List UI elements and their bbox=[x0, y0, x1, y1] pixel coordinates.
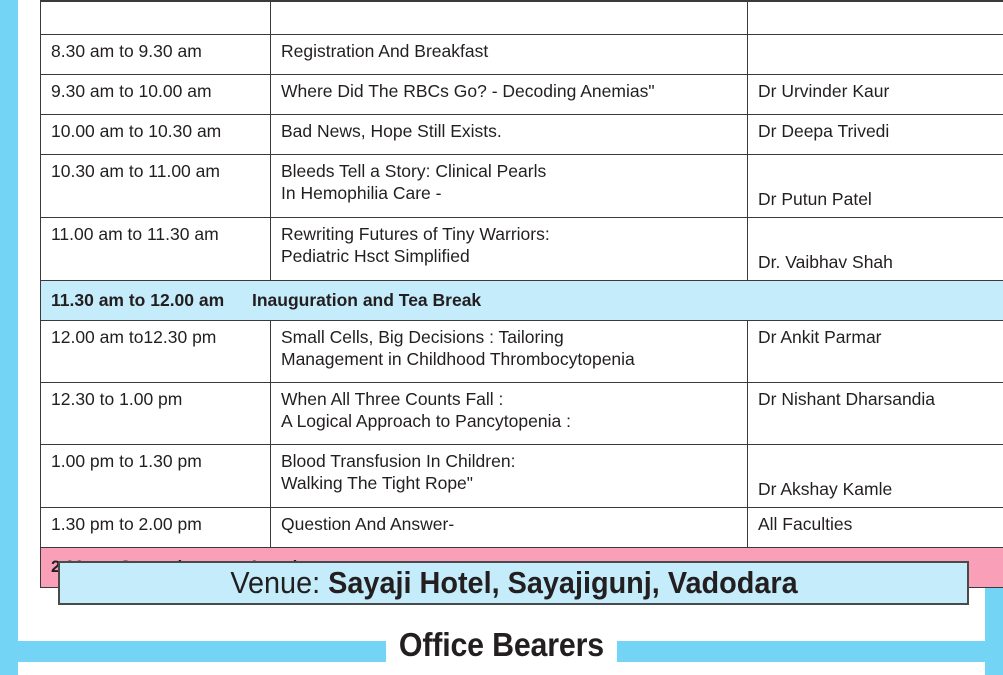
schedule-table-body: 8.30 am to 9.30 am Registration And Brea… bbox=[41, 1, 1003, 588]
cell-topic: Question And Answer- bbox=[271, 508, 748, 548]
cell-topic: Blood Transfusion In Children: Walking T… bbox=[271, 445, 748, 508]
cell-faculty: Dr. Vaibhav Shah bbox=[748, 218, 1003, 281]
cell-faculty bbox=[748, 1, 1003, 35]
cell-time: 10.00 am to 10.30 am bbox=[41, 115, 271, 155]
cell-time: 1.00 pm to 1.30 pm bbox=[41, 445, 271, 508]
cell-faculty: Dr Putun Patel bbox=[748, 155, 1003, 218]
table-row: 10.00 am to 10.30 am Bad News, Hope Stil… bbox=[41, 115, 1003, 155]
cell-break-blue: 11.30 am to 12.00 am Inauguration and Te… bbox=[41, 281, 1003, 321]
cell-time: 12.00 am to12.30 pm bbox=[41, 321, 271, 383]
topic-line-1: Small Cells, Big Decisions : Tailoring bbox=[281, 326, 739, 348]
topic-line-1: When All Three Counts Fall : bbox=[281, 388, 739, 410]
cell-faculty: Dr Nishant Dharsandia bbox=[748, 383, 1003, 445]
cell-faculty: All Faculties bbox=[748, 508, 1003, 548]
cell-faculty: Dr Urvinder Kaur bbox=[748, 75, 1003, 115]
venue-bar: Venue: Sayaji Hotel, Sayajigunj, Vadodar… bbox=[58, 561, 969, 605]
topic-line-1: Bleeds Tell a Story: Clinical Pearls bbox=[281, 160, 739, 182]
cell-faculty bbox=[748, 35, 1003, 75]
cell-topic: Bleeds Tell a Story: Clinical Pearls In … bbox=[271, 155, 748, 218]
table-row-clipped bbox=[41, 1, 1003, 35]
cell-faculty: Dr Akshay Kamle bbox=[748, 445, 1003, 508]
topic-line-2: In Hemophilia Care - bbox=[281, 182, 739, 204]
cell-faculty: Dr Deepa Trivedi bbox=[748, 115, 1003, 155]
cell-topic bbox=[271, 1, 748, 35]
table-row: 1.00 pm to 1.30 pm Blood Transfusion In … bbox=[41, 445, 1003, 508]
cell-time: 8.30 am to 9.30 am bbox=[41, 35, 271, 75]
schedule-table: 8.30 am to 9.30 am Registration And Brea… bbox=[40, 0, 1003, 588]
cell-topic: Where Did The RBCs Go? - Decoding Anemia… bbox=[271, 75, 748, 115]
cell-time: 11.30 am to 12.00 am bbox=[51, 289, 252, 311]
venue-label: Venue: bbox=[230, 565, 320, 600]
table-row: 10.30 am to 11.00 am Bleeds Tell a Story… bbox=[41, 155, 1003, 218]
office-bearers-band bbox=[18, 641, 985, 662]
table-row-inauguration: 11.30 am to 12.00 am Inauguration and Te… bbox=[41, 281, 1003, 321]
topic-line-2: Management in Childhood Thrombocytopenia bbox=[281, 348, 739, 370]
topic-line-1: Rewriting Futures of Tiny Warriors: bbox=[281, 223, 739, 245]
table-row: 1.30 pm to 2.00 pm Question And Answer- … bbox=[41, 508, 1003, 548]
topic-line-2: A Logical Approach to Pancytopenia : bbox=[281, 410, 739, 432]
topic-line-1: Blood Transfusion In Children: bbox=[281, 450, 739, 472]
table-row: 12.30 to 1.00 pm When All Three Counts F… bbox=[41, 383, 1003, 445]
cell-topic: Inauguration and Tea Break bbox=[252, 289, 481, 311]
cell-time bbox=[41, 1, 271, 35]
cell-time: 12.30 to 1.00 pm bbox=[41, 383, 271, 445]
cell-time: 1.30 pm to 2.00 pm bbox=[41, 508, 271, 548]
cell-time: 11.00 am to 11.30 am bbox=[41, 218, 271, 281]
venue-text: Venue: Sayaji Hotel, Sayajigunj, Vadodar… bbox=[230, 565, 797, 601]
topic-line-2: Walking The Tight Rope" bbox=[281, 472, 739, 494]
venue-value: Sayaji Hotel, Sayajigunj, Vadodara bbox=[328, 565, 797, 600]
page-content: 8.30 am to 9.30 am Registration And Brea… bbox=[18, 0, 985, 675]
topic-line-2: Pediatric Hsct Simplified bbox=[281, 245, 739, 267]
table-row: 8.30 am to 9.30 am Registration And Brea… bbox=[41, 35, 1003, 75]
cell-time: 10.30 am to 11.00 am bbox=[41, 155, 271, 218]
cell-topic: Small Cells, Big Decisions : Tailoring M… bbox=[271, 321, 748, 383]
cell-topic: Bad News, Hope Still Exists. bbox=[271, 115, 748, 155]
table-row: 9.30 am to 10.00 am Where Did The RBCs G… bbox=[41, 75, 1003, 115]
table-row: 11.00 am to 11.30 am Rewriting Futures o… bbox=[41, 218, 1003, 281]
left-blue-border bbox=[0, 0, 18, 675]
cell-time: 9.30 am to 10.00 am bbox=[41, 75, 271, 115]
cell-topic: When All Three Counts Fall : A Logical A… bbox=[271, 383, 748, 445]
cell-topic: Registration And Breakfast bbox=[271, 35, 748, 75]
table-row: 12.00 am to12.30 pm Small Cells, Big Dec… bbox=[41, 321, 1003, 383]
cell-topic: Rewriting Futures of Tiny Warriors: Pedi… bbox=[271, 218, 748, 281]
cell-faculty: Dr Ankit Parmar bbox=[748, 321, 1003, 383]
